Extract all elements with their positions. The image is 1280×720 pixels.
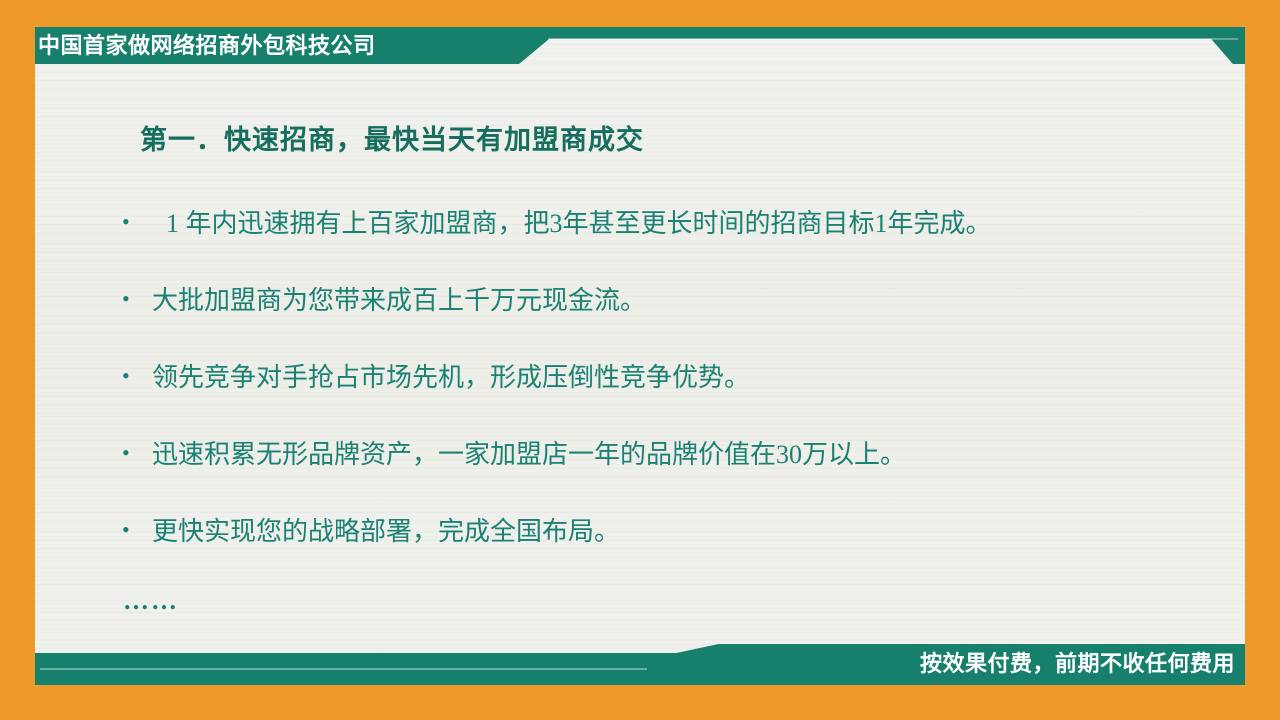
list-item: 大批加盟商为您带来成百上千万元现金流。 bbox=[120, 286, 1230, 316]
list-item: 更快实现您的战略部署，完成全国布局。 bbox=[120, 517, 1230, 547]
slide-content: 第一．快速招商，最快当天有加盟商成交 1 年内迅速拥有上百家加盟商，把3年甚至更… bbox=[120, 118, 1230, 616]
ellipsis-text: …… bbox=[123, 586, 1230, 616]
slide-root: 中国首家做网络招商外包科技公司 第一．快速招商，最快当天有加盟商成交 1 年内迅… bbox=[0, 0, 1280, 720]
list-item: 迅速积累无形品牌资产，一家加盟店一年的品牌价值在30万以上。 bbox=[120, 440, 1230, 470]
page-title: 第一．快速招商，最快当天有加盟商成交 bbox=[140, 118, 1230, 157]
footer-divider-line bbox=[40, 668, 647, 670]
benefit-list: 1 年内迅速拥有上百家加盟商，把3年甚至更长时间的招商目标1年完成。 大批加盟商… bbox=[120, 209, 1230, 547]
list-item: 领先竞争对手抢占市场先机，形成压倒性竞争优势。 bbox=[120, 363, 1230, 393]
footer-tagline: 按效果付费，前期不收任何费用 bbox=[920, 648, 1235, 680]
header-divider-line bbox=[548, 38, 1238, 40]
list-item: 1 年内迅速拥有上百家加盟商，把3年甚至更长时间的招商目标1年完成。 bbox=[120, 209, 1230, 239]
header-title: 中国首家做网络招商外包科技公司 bbox=[38, 30, 376, 62]
